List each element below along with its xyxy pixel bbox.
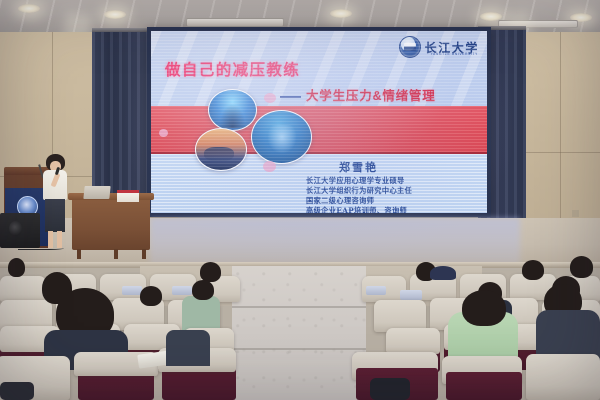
wall-panel-line bbox=[516, 152, 600, 153]
center-aisle bbox=[232, 266, 366, 400]
audience-bag bbox=[370, 378, 410, 400]
ceiling-downlight bbox=[18, 4, 40, 13]
seat-tablet-arm bbox=[366, 286, 386, 295]
audience-head bbox=[200, 262, 221, 282]
audience-head bbox=[570, 256, 593, 278]
speaker-cone-icon bbox=[9, 221, 22, 236]
audience-bag bbox=[0, 382, 34, 400]
audience-cap bbox=[430, 266, 456, 280]
table-leg bbox=[142, 249, 146, 259]
curtain-rail bbox=[92, 28, 148, 32]
audience-head bbox=[8, 258, 25, 277]
audience-head bbox=[522, 260, 544, 280]
ceiling-downlight bbox=[104, 10, 126, 19]
auditorium-seat bbox=[0, 276, 46, 302]
lecture-hall-photo: 做自己的减压教练 大学生压力&情绪管理 长江大学 YANGTZE UNIVERS… bbox=[0, 0, 600, 400]
audience-head bbox=[192, 280, 214, 300]
presenter bbox=[40, 154, 70, 250]
audience-head bbox=[462, 290, 506, 326]
auditorium-seat bbox=[386, 328, 440, 354]
table-leg bbox=[114, 249, 118, 259]
ceiling-downlight bbox=[330, 9, 352, 18]
audience-torso bbox=[166, 330, 210, 366]
seat-tablet-arm bbox=[172, 286, 192, 295]
auditorium-seat bbox=[526, 354, 600, 400]
seat-side-panel bbox=[446, 372, 522, 400]
slide-projector-glare bbox=[151, 31, 487, 213]
seat-tablet-arm bbox=[400, 290, 422, 300]
presentation-slide: 做自己的减压教练 大学生压力&情绪管理 长江大学 YANGTZE UNIVERS… bbox=[151, 31, 487, 213]
aisle-floor-texture bbox=[232, 266, 366, 400]
audio-cable bbox=[18, 246, 64, 250]
aisle-step-edge bbox=[232, 348, 366, 350]
wall-outlet bbox=[572, 210, 579, 217]
presentation-table bbox=[72, 198, 150, 250]
seat-tablet-arm bbox=[122, 286, 142, 295]
presenter-skirt bbox=[45, 199, 65, 232]
name-card bbox=[117, 190, 139, 202]
floor-loudspeaker bbox=[0, 213, 40, 248]
audience-head bbox=[140, 286, 162, 306]
aisle-step-edge bbox=[232, 306, 366, 308]
stage-light-wash bbox=[150, 218, 520, 266]
laptop bbox=[83, 186, 110, 199]
table-leg bbox=[77, 249, 81, 259]
ceiling-air-vent bbox=[186, 18, 284, 27]
table-top bbox=[68, 193, 154, 200]
